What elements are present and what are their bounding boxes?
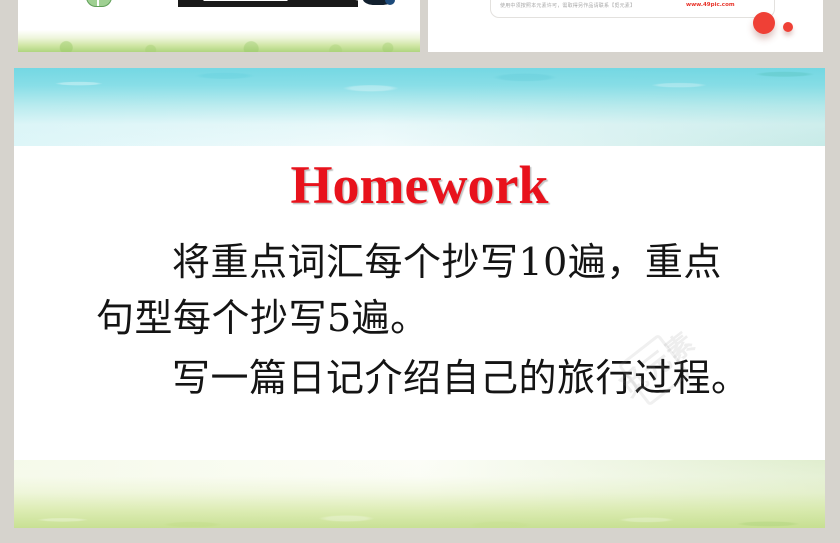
grass-gradient-band: [18, 30, 420, 52]
homework-slide[interactable]: Homework 将重点词汇每个抄写10遍，重点句型每个抄写5遍。 写一篇日记介…: [14, 68, 825, 528]
red-dot-small-icon: [783, 22, 793, 32]
homework-paragraph-1: 将重点词汇每个抄写10遍，重点句型每个抄写5遍。: [96, 235, 756, 347]
dark-blob-icon: [363, 0, 393, 5]
slide-content: Homework 将重点词汇每个抄写10遍，重点句型每个抄写5遍。 写一篇日记介…: [14, 68, 825, 528]
glasses-icon: [86, 0, 112, 7]
slide-thumbnail-row: 使用中须按照本元素许可，需取得另作品请联系【觅元素】 www.49pic.com: [0, 0, 840, 53]
homework-paragraph-2: 写一篇日记介绍自己的旅行过程。: [96, 351, 756, 407]
homework-body: 将重点词汇每个抄写10遍，重点句型每个抄写5遍。 写一篇日记介绍自己的旅行过程。: [96, 235, 756, 407]
previous-slide-thumbnail[interactable]: [18, 0, 420, 52]
screenshot-root: 使用中须按照本元素许可，需取得另作品请联系【觅元素】 www.49pic.com…: [0, 0, 840, 543]
car-silhouette-icon: [178, 0, 358, 7]
slide-title: Homework: [14, 158, 825, 212]
red-dot-large-icon: [753, 12, 775, 34]
thumbnail-artwork: [18, 0, 420, 13]
watermark-note-text: 使用中须按照本元素许可，需取得另作品请联系【觅元素】: [500, 2, 635, 9]
watermark-footer-thumbnail[interactable]: 使用中须按照本元素许可，需取得另作品请联系【觅元素】 www.49pic.com: [428, 0, 823, 52]
watermark-url-link[interactable]: www.49pic.com: [686, 2, 735, 8]
